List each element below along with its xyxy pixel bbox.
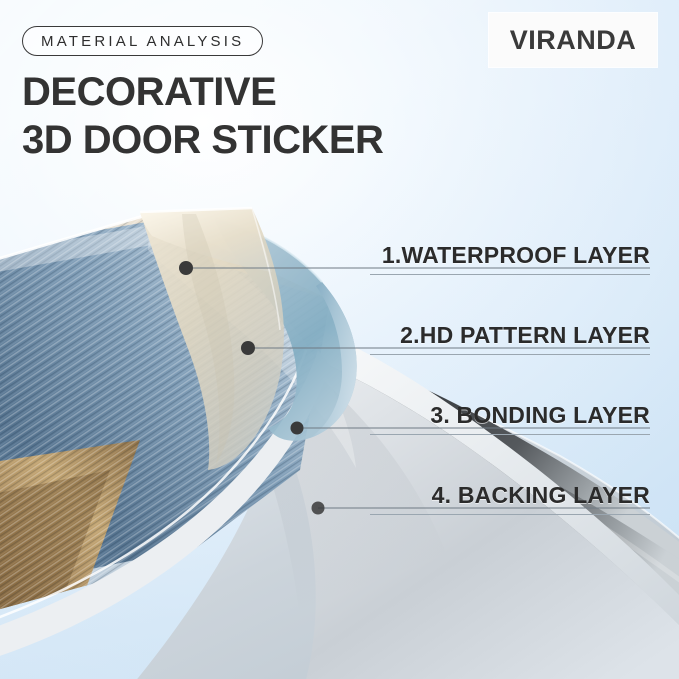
callout-dot-4 (312, 502, 325, 515)
title-line-2: 3D DOOR STICKER (22, 116, 383, 164)
callout-dot-2 (241, 341, 255, 355)
layer-label-2: 2.HD PATTERN LAYER (370, 322, 650, 349)
layer-rule-1 (370, 274, 650, 275)
layer-rule-2 (370, 354, 650, 355)
layer-rule-4 (370, 514, 650, 515)
title-line-1: DECORATIVE (22, 70, 276, 114)
layer-callout-1: 1.WATERPROOF LAYER (370, 242, 650, 275)
page-title: DECORATIVE 3D DOOR STICKER (22, 68, 383, 164)
layer-label-4: 4. BACKING LAYER (370, 482, 650, 509)
layer-callout-2: 2.HD PATTERN LAYER (370, 322, 650, 355)
infographic-canvas: MATERIAL ANALYSIS DECORATIVE 3D DOOR STI… (0, 0, 679, 679)
layer-callout-4: 4. BACKING LAYER (370, 482, 650, 515)
material-analysis-badge: MATERIAL ANALYSIS (22, 26, 263, 56)
callout-dot-1 (179, 261, 193, 275)
layer-rule-3 (370, 434, 650, 435)
brand-name: VIRANDA (510, 25, 637, 56)
layer-callout-3: 3. BONDING LAYER (370, 402, 650, 435)
callout-dot-3 (291, 422, 304, 435)
layer-label-3: 3. BONDING LAYER (370, 402, 650, 429)
brand-logo: VIRANDA (489, 13, 657, 67)
badge-label: MATERIAL ANALYSIS (41, 33, 244, 50)
layer-label-1: 1.WATERPROOF LAYER (370, 242, 650, 269)
